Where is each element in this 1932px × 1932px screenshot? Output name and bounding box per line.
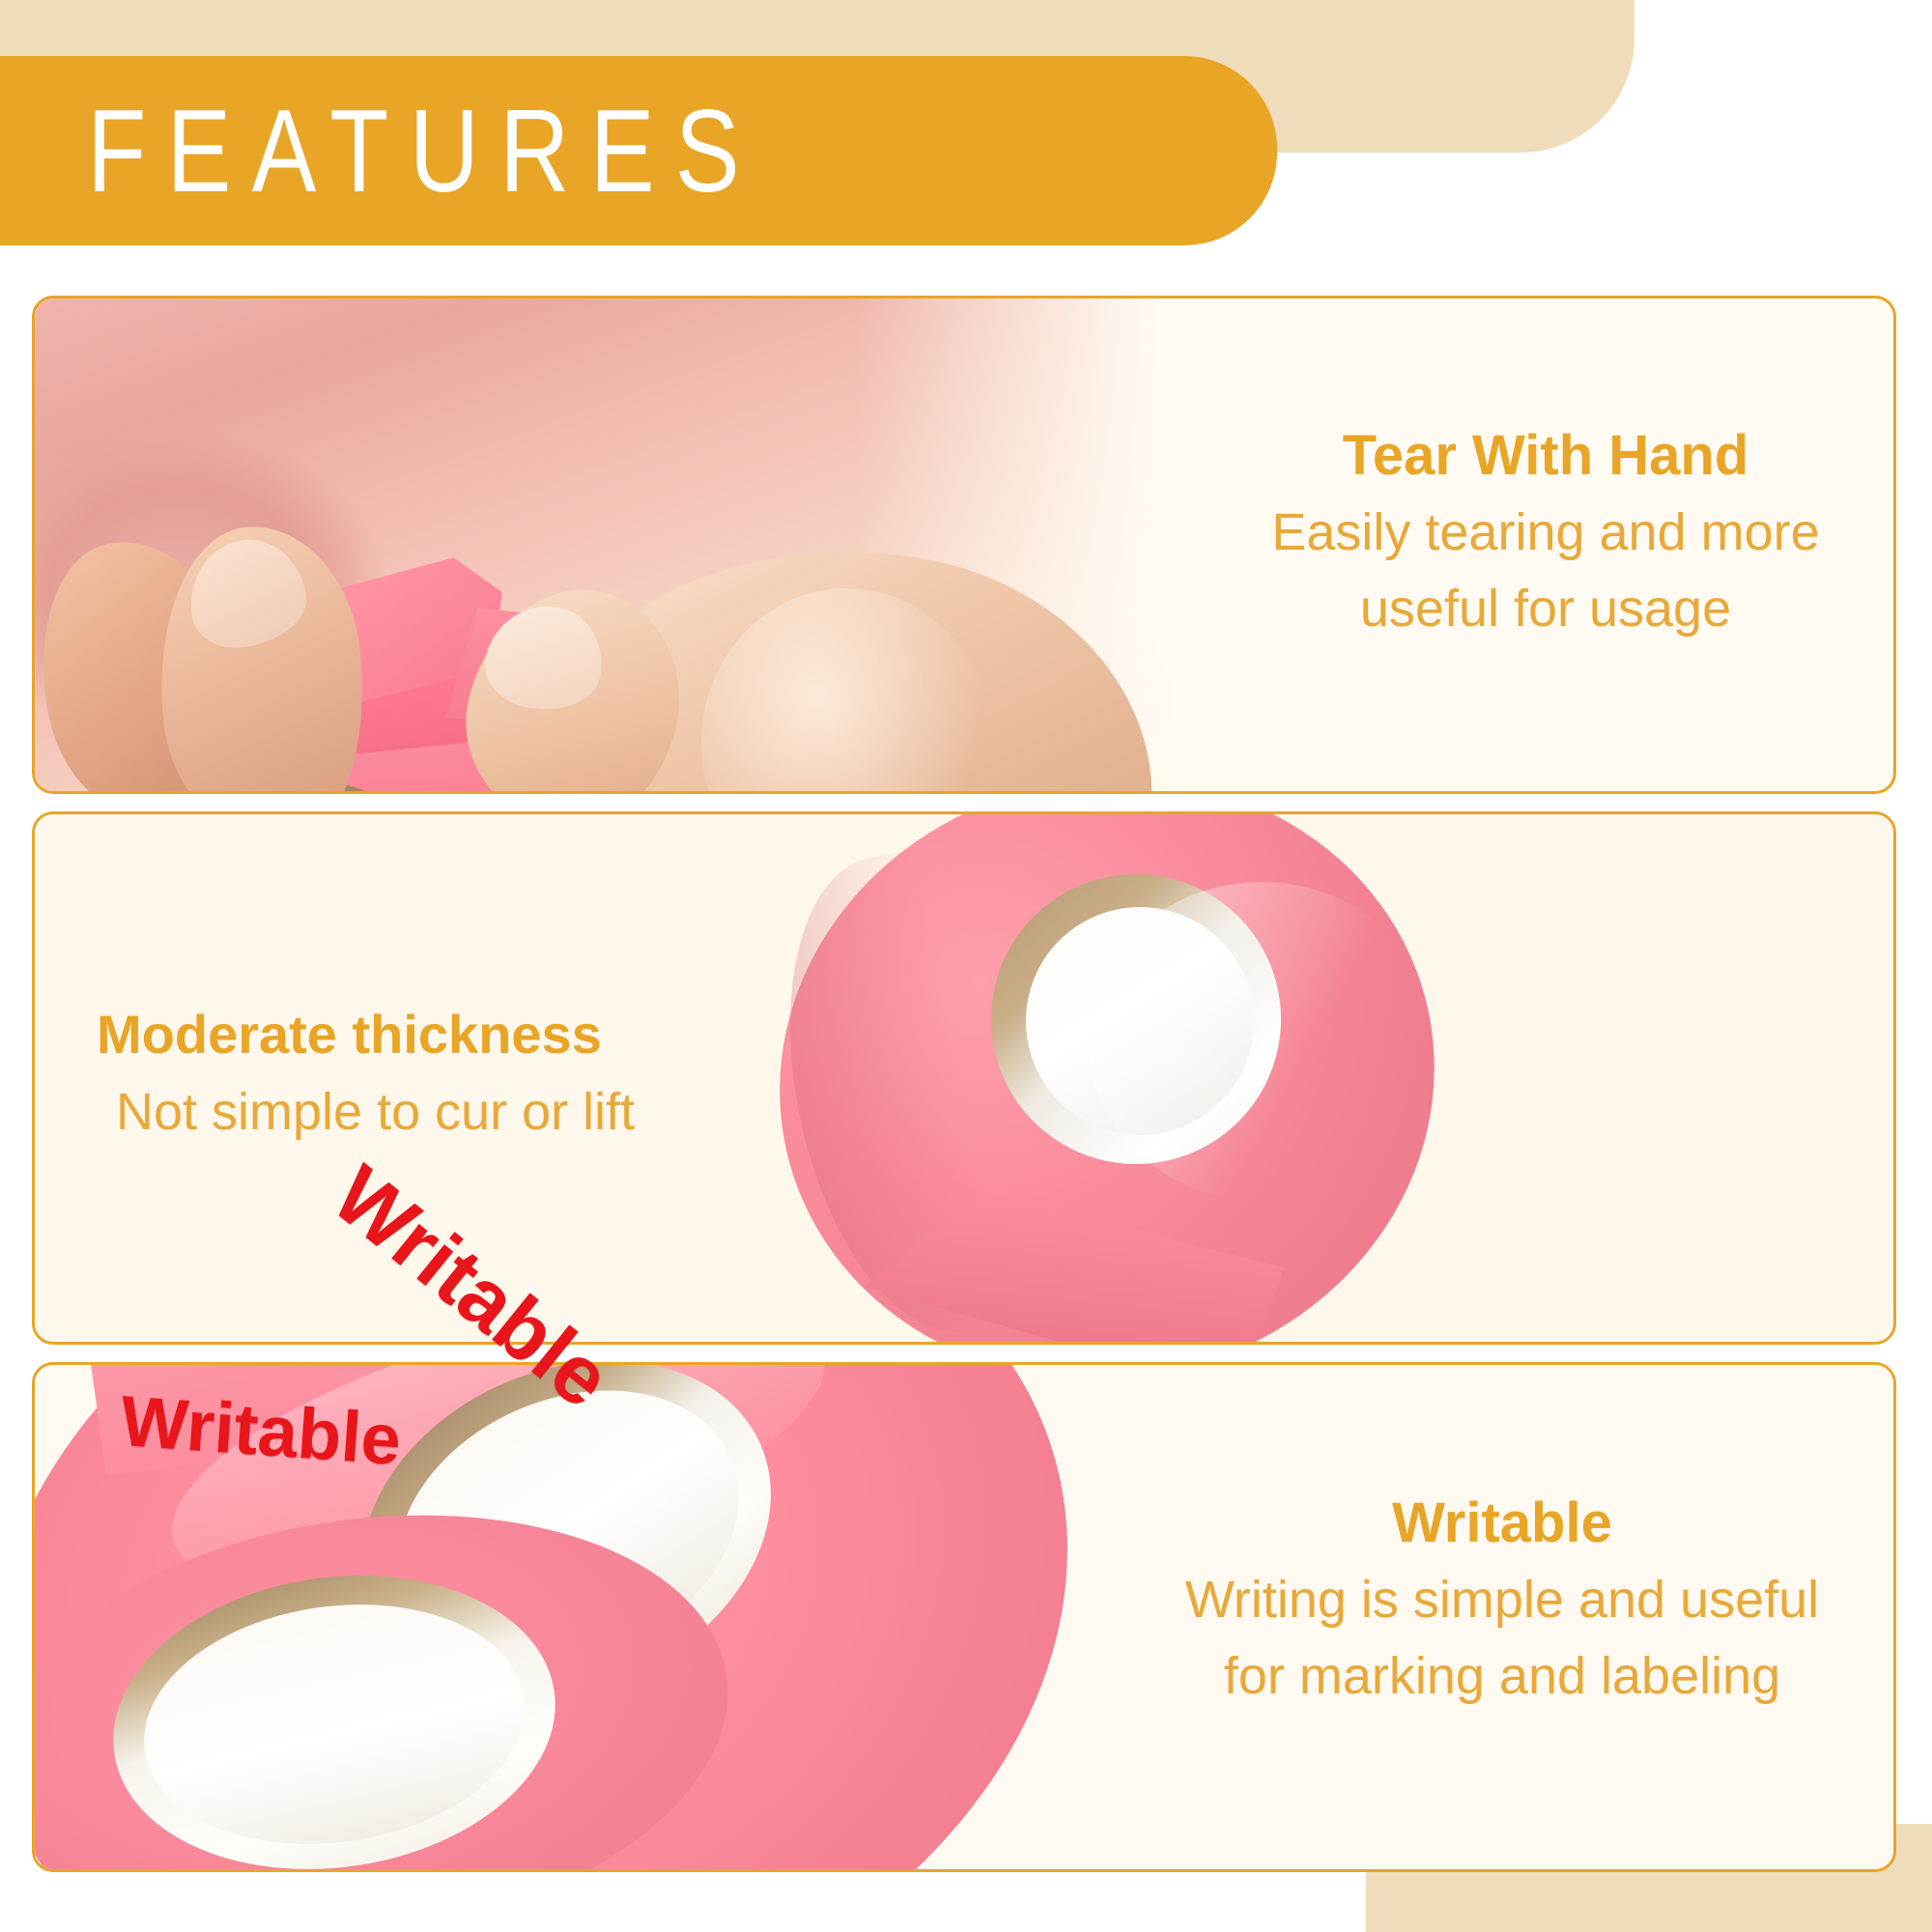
feature-desc-line-1: Writing is simple and useful (1150, 1569, 1855, 1632)
feature-text-moderate-thickness: Moderate thickness Not simple to cur or … (97, 1005, 715, 1144)
page-title: FEATURES (0, 92, 760, 210)
feature-text-tear-with-hand: Tear With Hand Easily tearing and more u… (1236, 425, 1855, 640)
feature-desc-line-1: Not simple to cur or lift (97, 1081, 715, 1144)
feature-title: Moderate thickness (97, 1005, 715, 1065)
tape-face-highlight (1088, 882, 1435, 1201)
feature-title: Tear With Hand (1236, 425, 1855, 488)
feature-desc-line-2: for marking and labeling (1150, 1645, 1855, 1708)
feature-text-writable: Writable Writing is simple and useful fo… (1150, 1492, 1855, 1708)
feature-title: Writable (1150, 1492, 1855, 1555)
infographic-page: FEATURES Tear With Hand Easily tearing a… (0, 0, 1932, 1932)
photo-hand-tearing-tape (35, 298, 1175, 791)
feature-desc-line-2: useful for usage (1236, 578, 1855, 640)
features-banner: FEATURES (0, 56, 1277, 245)
feature-desc-line-1: Easily tearing and more (1236, 501, 1855, 564)
